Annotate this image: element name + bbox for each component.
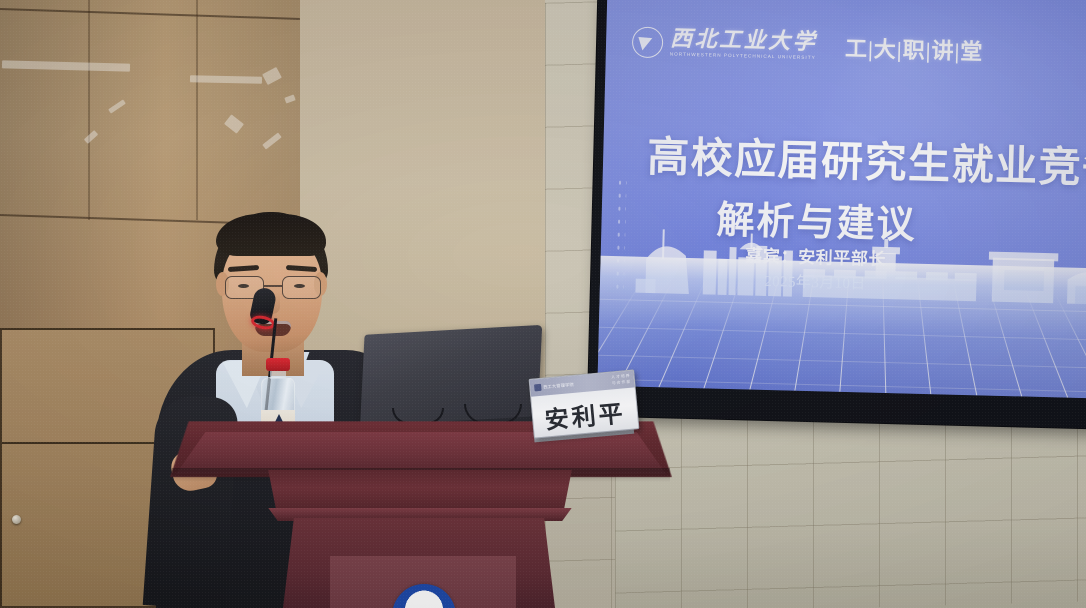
nameplate-org: 西工大管理学院 — [534, 381, 574, 392]
photograph-scene: 西北工业大学 NORTHWESTERN POLYTECHNICAL UNIVER… — [0, 0, 1086, 608]
university-logo: 西北工业大学 NORTHWESTERN POLYTECHNICAL UNIVER… — [632, 26, 818, 62]
nameplate-dept: 人 才 培 养 与 合 作 部 — [611, 374, 630, 386]
bottle-cap — [266, 358, 290, 371]
speaker-hair-front — [216, 214, 326, 256]
panel-seam-vertical — [88, 0, 90, 220]
nwpu-emblem-icon — [632, 26, 664, 58]
nameplate-dept-line-2: 与 合 作 部 — [612, 379, 631, 386]
glasses-bridge — [264, 285, 282, 287]
slide-surface: 西北工业大学 NORTHWESTERN POLYTECHNICAL UNIVER… — [597, 0, 1086, 398]
name-plate: 西工大管理学院 人 才 培 养 与 合 作 部 安利平 — [528, 369, 639, 438]
series-brand-label: 工|大|职|讲|堂 — [845, 31, 984, 66]
door-knob-icon[interactable] — [12, 515, 21, 524]
university-name-block: 西北工业大学 NORTHWESTERN POLYTECHNICAL UNIVER… — [670, 28, 818, 61]
wall-below-screen — [615, 400, 1086, 608]
slide-header: 西北工业大学 NORTHWESTERN POLYTECHNICAL UNIVER… — [631, 13, 1086, 81]
nameplate-logo-icon — [534, 384, 542, 392]
panel-seam-vertical — [196, 0, 198, 220]
slide-title-line-1: 高校应届研究生就业竞争力 — [647, 123, 1086, 197]
lens-right — [282, 276, 321, 299]
perspective-floor-grid — [597, 268, 1086, 399]
nameplate-org-text: 西工大管理学院 — [543, 381, 574, 390]
tape-residue — [190, 75, 262, 84]
projection-screen: 西北工业大学 NORTHWESTERN POLYTECHNICAL UNIVER… — [588, 0, 1086, 428]
bottle-neck — [270, 370, 286, 379]
university-name-cn: 西北工业大学 — [670, 28, 818, 54]
university-name-en: NORTHWESTERN POLYTECHNICAL UNIVERSITY — [670, 53, 817, 61]
